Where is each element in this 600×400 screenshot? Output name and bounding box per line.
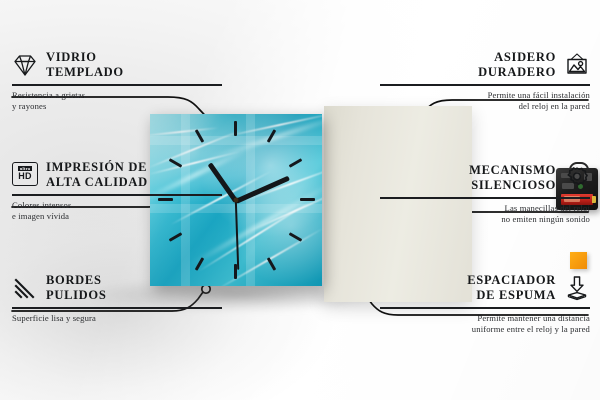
feature-title-line2: PULIDOS [46, 288, 106, 303]
feature-desc-line1: Permite una fácil instalación [380, 90, 590, 101]
feature-asidero-duradero: ASIDERO DURADERO Permite una fácil insta… [380, 50, 590, 112]
gear-icon [564, 165, 590, 191]
feature-desc-line2: uniforme entre el reloj y la pared [380, 324, 590, 335]
feature-impresion-alta-calidad: ultra HD IMPRESIÓN DE ALTA CALIDAD Color… [12, 160, 222, 222]
feature-desc-line1: Colores intensos [12, 200, 222, 211]
clock-hub [234, 198, 239, 203]
feature-rule [380, 197, 590, 199]
feature-desc-line2: del reloj en la pared [380, 101, 590, 112]
diamond-icon [12, 52, 38, 78]
feature-title-line2: TEMPLADO [46, 65, 124, 80]
feature-desc-line1: Las manecillas del reloj [380, 203, 590, 214]
hanging-frame-icon [564, 52, 590, 78]
feature-title-line1: IMPRESIÓN DE [46, 160, 148, 175]
feature-desc-line2: no emiten ningún sonido [380, 214, 590, 225]
foam-spacer [570, 252, 587, 269]
product-infographic: VIDRIO TEMPLADO Resistencia a grietas y … [0, 0, 600, 400]
feature-desc-line1: Superficie lisa y segura [12, 313, 222, 324]
feature-title-line2: ALTA CALIDAD [46, 175, 148, 190]
feature-title-line1: MECANISMO [469, 163, 556, 178]
feature-desc-line2: e imagen vívida [12, 211, 222, 222]
feature-bordes-pulidos: BORDES PULIDOS Superficie lisa y segura [12, 273, 222, 324]
feature-desc-line2: y rayones [12, 101, 222, 112]
feature-title-line1: VIDRIO [46, 50, 124, 65]
polished-edges-icon [12, 275, 38, 301]
foam-spacer-arrow-icon [564, 275, 590, 301]
feature-title-line2: SILENCIOSO [469, 178, 556, 193]
feature-title-line1: ASIDERO [478, 50, 556, 65]
feature-mecanismo-silencioso: MECANISMO SILENCIOSO Las manecillas del … [380, 163, 590, 225]
feature-espaciador-de-espuma: ESPACIADOR DE ESPUMA Permite mantener un… [380, 273, 590, 335]
feature-rule [12, 84, 222, 86]
feature-rule [380, 307, 590, 309]
ultra-hd-icon: ultra HD [12, 162, 38, 188]
feature-desc-line1: Resistencia a grietas [12, 90, 222, 101]
feature-desc-line1: Permite mantener una distancia [380, 313, 590, 324]
feature-title-line2: DURADERO [478, 65, 556, 80]
feature-rule [380, 84, 590, 86]
feature-title-line1: BORDES [46, 273, 106, 288]
feature-vidrio-templado: VIDRIO TEMPLADO Resistencia a grietas y … [12, 50, 222, 112]
feature-rule [12, 194, 222, 196]
feature-title-line2: DE ESPUMA [467, 288, 556, 303]
feature-rule [12, 307, 222, 309]
feature-title-line1: ESPACIADOR [467, 273, 556, 288]
ultra-hd-icon-main-text: HD [18, 172, 32, 181]
